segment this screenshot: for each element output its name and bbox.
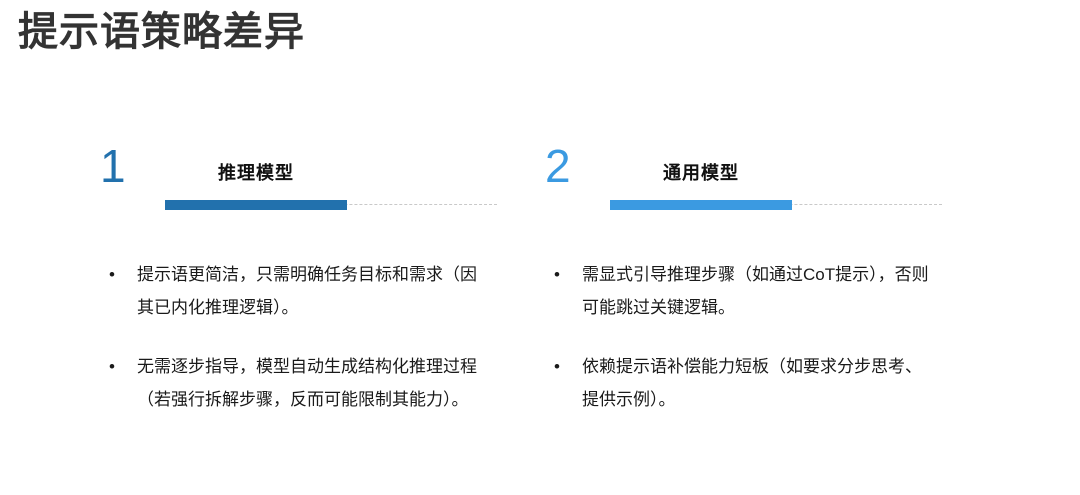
bullet-marker-icon: •: [109, 350, 115, 383]
column-heading: 推理模型: [165, 159, 347, 185]
bullet-list: • 需显式引导推理步骤（如通过CoT提示），否则可能跳过关键逻辑。 • 依赖提示…: [545, 258, 980, 416]
progress-bar-fill: [165, 200, 347, 210]
column-reasoning-model: 1 推理模型 • 提示语更简洁，只需明确任务目标和需求（因其已内化推理逻辑）。 …: [100, 145, 535, 442]
bullet-marker-icon: •: [554, 350, 560, 383]
bullet-marker-icon: •: [109, 258, 115, 291]
column-header: 2 通用模型: [545, 145, 980, 220]
bullet-marker-icon: •: [554, 258, 560, 291]
list-item-text: 提示语更简洁，只需明确任务目标和需求（因其已内化推理逻辑）。: [137, 258, 485, 324]
column-header: 1 推理模型: [100, 145, 535, 220]
progress-bar: [165, 200, 497, 210]
column-general-model: 2 通用模型 • 需显式引导推理步骤（如通过CoT提示），否则可能跳过关键逻辑。…: [545, 145, 980, 442]
list-item: • 无需逐步指导，模型自动生成结构化推理过程（若强行拆解步骤，反而可能限制其能力…: [100, 350, 485, 416]
list-item-text: 依赖提示语补偿能力短板（如要求分步思考、提供示例）。: [582, 350, 930, 416]
list-item-text: 无需逐步指导，模型自动生成结构化推理过程（若强行拆解步骤，反而可能限制其能力）。: [137, 350, 485, 416]
columns-container: 1 推理模型 • 提示语更简洁，只需明确任务目标和需求（因其已内化推理逻辑）。 …: [0, 145, 1080, 442]
column-heading: 通用模型: [610, 159, 792, 185]
list-item: • 提示语更简洁，只需明确任务目标和需求（因其已内化推理逻辑）。: [100, 258, 485, 324]
bullet-list: • 提示语更简洁，只需明确任务目标和需求（因其已内化推理逻辑）。 • 无需逐步指…: [100, 258, 535, 416]
page-title: 提示语策略差异: [18, 8, 305, 56]
progress-bar-fill: [610, 200, 792, 210]
progress-bar: [610, 200, 942, 210]
list-item: • 依赖提示语补偿能力短板（如要求分步思考、提供示例）。: [545, 350, 930, 416]
list-item-text: 需显式引导推理步骤（如通过CoT提示），否则可能跳过关键逻辑。: [582, 258, 930, 324]
slide-canvas: 提示语策略差异 1 推理模型 • 提示语更简洁，只需明确任务目标和需求（因其已内…: [0, 0, 1080, 495]
list-item: • 需显式引导推理步骤（如通过CoT提示），否则可能跳过关键逻辑。: [545, 258, 930, 324]
column-number: 2: [545, 143, 571, 189]
column-number: 1: [100, 143, 126, 189]
